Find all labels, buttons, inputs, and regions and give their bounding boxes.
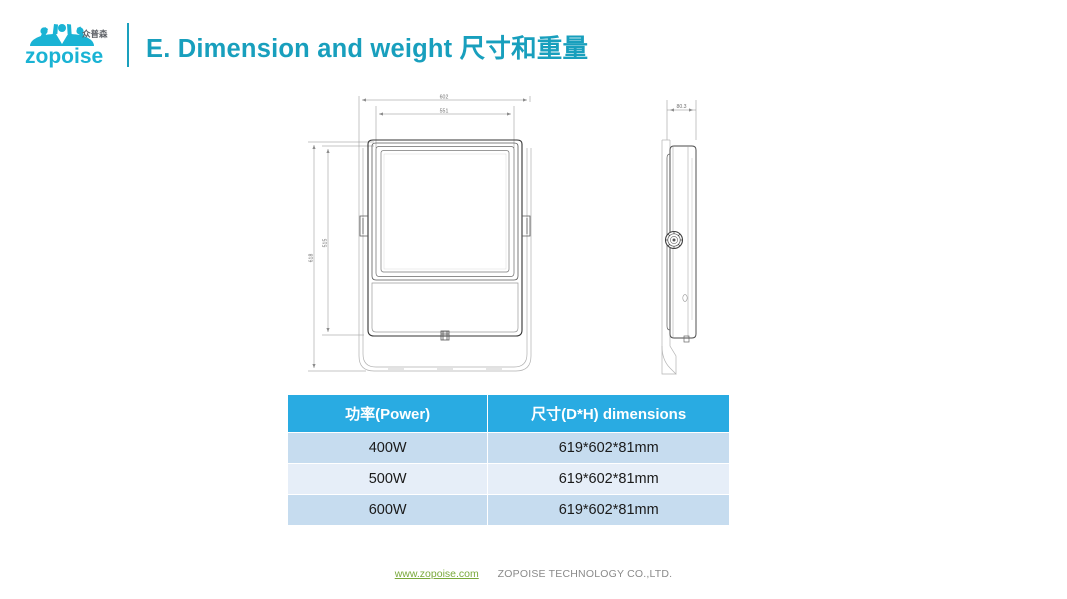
table-row: 600W 619*602*81mm <box>288 495 729 525</box>
dim-label-inner-width: 551 <box>440 109 449 115</box>
bezel-middle <box>376 147 514 277</box>
dimension-labels: 602 551 618 515 80.3 <box>309 95 687 263</box>
side-view <box>662 140 696 374</box>
table-row: 500W 619*602*81mm <box>288 464 729 494</box>
tilt-adjust-knob <box>666 232 683 249</box>
cell-dimensions: 619*602*81mm <box>488 433 729 463</box>
cell-power: 600W <box>288 495 488 525</box>
front-view <box>359 140 531 371</box>
lower-housing-panel <box>372 283 518 332</box>
dim-label-inner-height: 515 <box>323 239 329 248</box>
mounting-bracket <box>359 148 531 371</box>
table-row: 400W 619*602*81mm <box>288 433 729 463</box>
tilt-lug-left <box>360 216 368 236</box>
page-header: zopoise 众普森 E. Dimension and weight 尺寸和重… <box>0 0 1067 86</box>
logo-icon: zopoise 众普森 <box>24 20 120 68</box>
cell-dimensions: 619*602*81mm <box>488 464 729 494</box>
dimension-drawing: 602 551 618 515 80.3 <box>296 88 726 384</box>
header-divider <box>127 23 129 67</box>
table-header-dimensions: 尺寸(D*H) dimensions <box>488 395 729 432</box>
logo-wordmark: zopoise <box>25 45 103 68</box>
dim-label-overall-width: 602 <box>440 95 449 101</box>
cell-power: 500W <box>288 464 488 494</box>
dimension-lines <box>308 96 696 371</box>
company-name: ZOPOISE TECHNOLOGY CO.,LTD. <box>498 568 673 580</box>
dim-label-depth: 80.3 <box>676 104 686 110</box>
table-header-row: 功率(Power) 尺寸(D*H) dimensions <box>288 395 729 432</box>
cell-power: 400W <box>288 433 488 463</box>
housing-outline <box>368 140 522 336</box>
bezel-inner <box>381 151 509 273</box>
page-title: E. Dimension and weight 尺寸和重量 <box>146 28 588 65</box>
page-footer: www.zopoise.com ZOPOISE TECHNOLOGY CO.,L… <box>0 568 1067 580</box>
cell-dimensions: 619*602*81mm <box>488 495 729 525</box>
bezel-outer <box>372 143 518 280</box>
power-dimension-table: 功率(Power) 尺寸(D*H) dimensions 400W 619*60… <box>288 394 729 526</box>
logo-chinese-text: 众普森 <box>82 29 108 40</box>
lens-area <box>384 154 506 269</box>
table-header-power: 功率(Power) <box>288 395 488 432</box>
zopoise-logo[interactable]: zopoise 众普森 <box>24 20 120 68</box>
tilt-lug-right <box>522 216 530 236</box>
side-bracket <box>662 140 676 374</box>
website-link[interactable]: www.zopoise.com <box>395 568 479 580</box>
floodlight-drawing-svg: 602 551 618 515 80.3 <box>296 88 726 384</box>
dim-label-overall-height: 618 <box>309 254 315 263</box>
